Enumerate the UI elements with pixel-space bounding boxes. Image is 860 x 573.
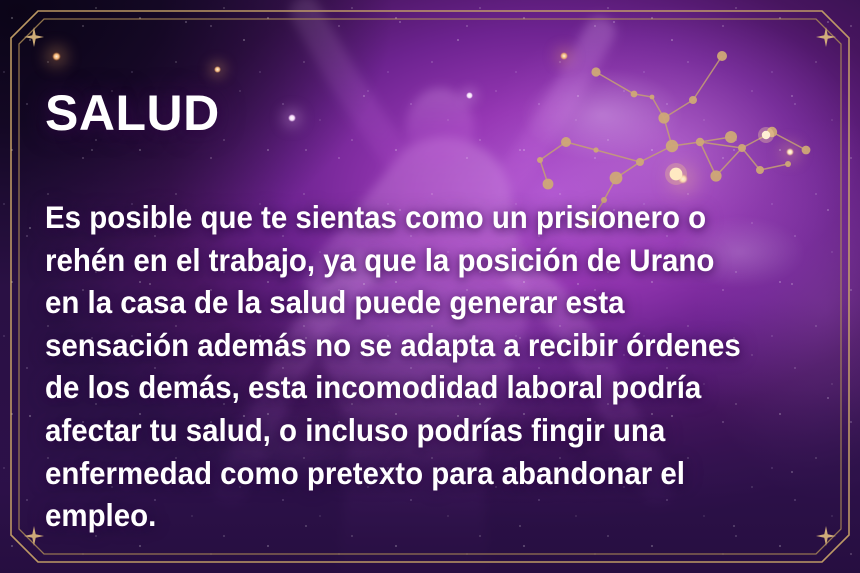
- body-text-line: enfermedad como pretexto para abandonar …: [45, 452, 767, 495]
- body-text-line: en la casa de la salud puede generar est…: [45, 281, 767, 324]
- horoscope-body-text: Es posible que te sientas como un prisio…: [45, 196, 767, 537]
- body-text-line: afectar tu salud, o incluso podrías fing…: [45, 409, 767, 452]
- body-text-line: Es posible que te sientas como un prisio…: [45, 196, 767, 239]
- card-content: SALUD Es posible que te sientas como un …: [45, 0, 835, 573]
- body-text-line: empleo.: [45, 494, 767, 537]
- body-text-line: sensación además no se adapta a recibir …: [45, 324, 767, 367]
- body-text-line: de los demás, esta incomodidad laboral p…: [45, 366, 767, 409]
- body-text-line: rehén en el trabajo, ya que la posición …: [45, 239, 767, 282]
- page-title: SALUD: [45, 88, 220, 138]
- horoscope-card: SALUD Es posible que te sientas como un …: [0, 0, 860, 573]
